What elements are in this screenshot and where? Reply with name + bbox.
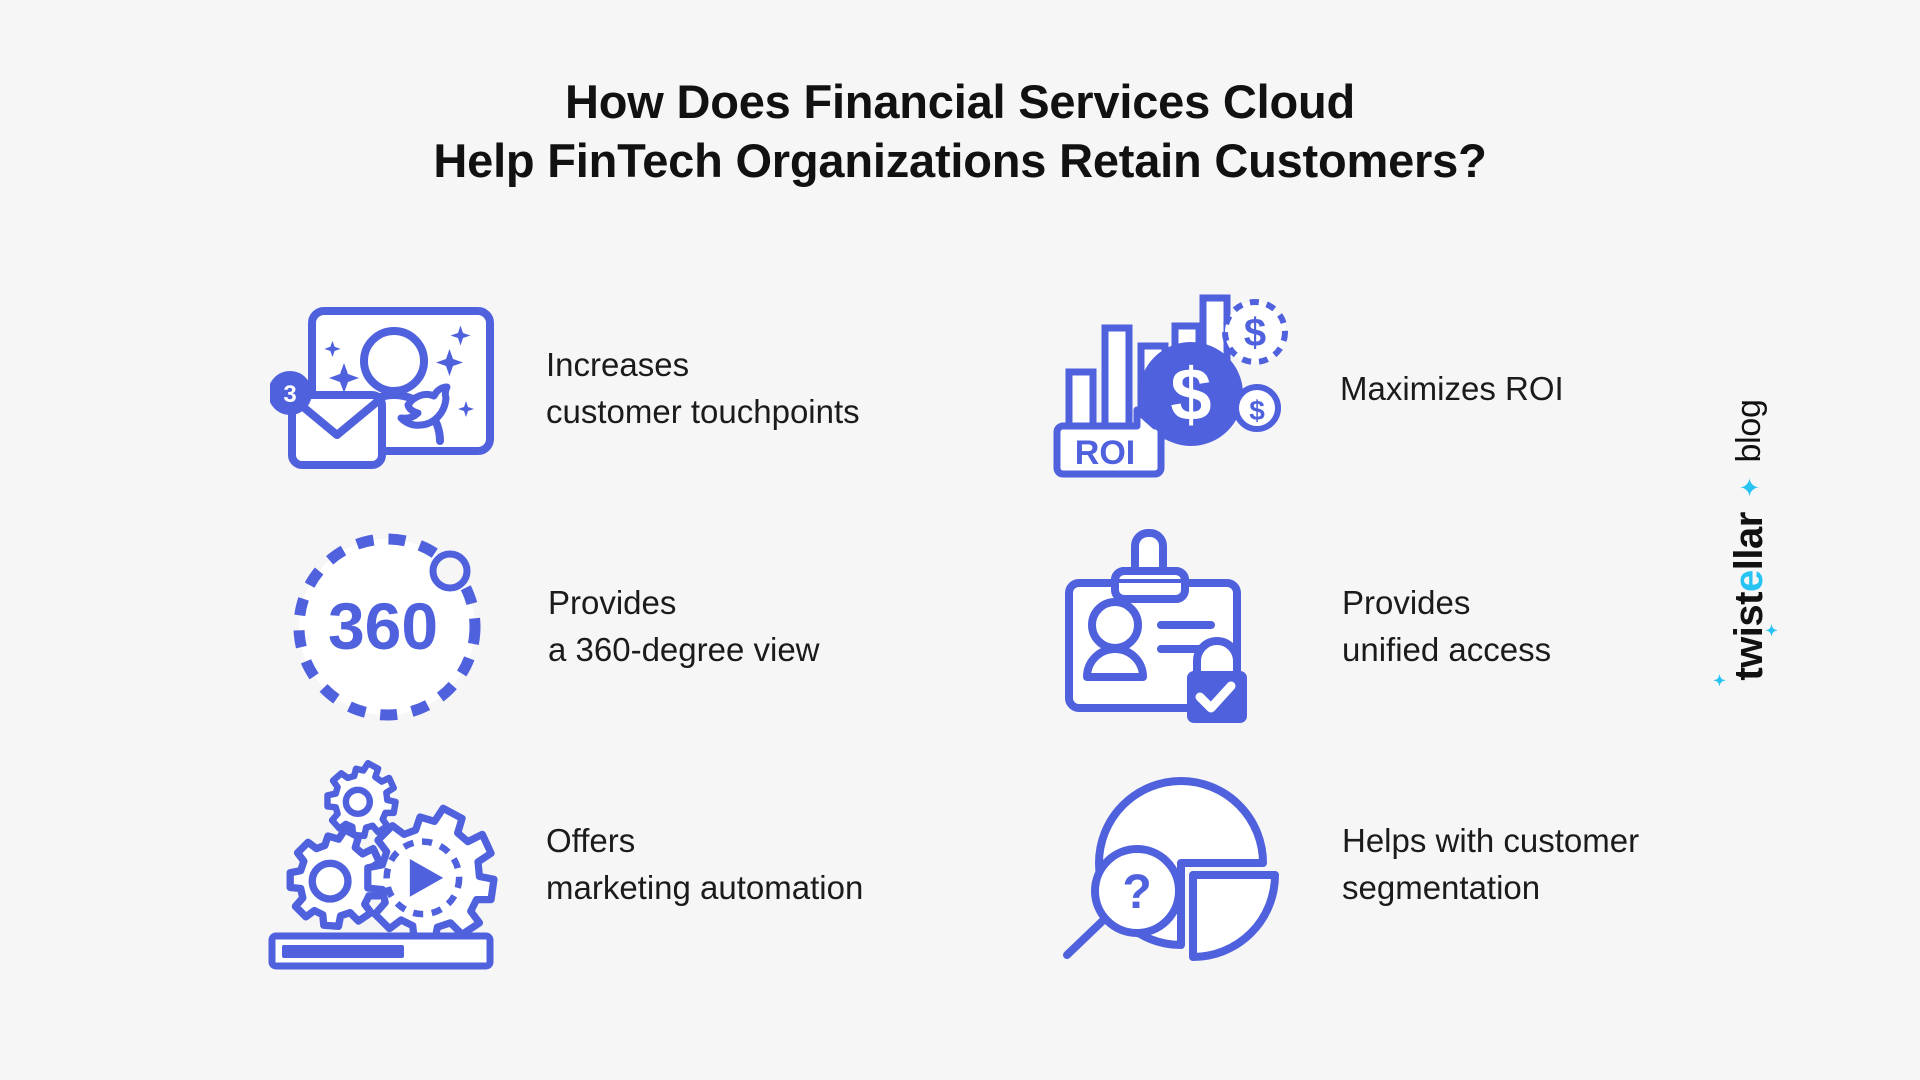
gears-automation-icon bbox=[250, 750, 510, 980]
feature-item-marketing-automation: Offers marketing automation bbox=[250, 746, 950, 984]
roi-bubble-text: ROI bbox=[1075, 434, 1135, 472]
brand-name: ✦ twistellar ✦ bbox=[1727, 512, 1772, 680]
feature-label: Provides a 360-degree view bbox=[512, 580, 820, 674]
feature-item-increases-touchpoints: 3 Increases customer touchpoints bbox=[250, 270, 950, 508]
brand-name-part2: llar bbox=[1727, 512, 1771, 570]
brand-sub-label: blog bbox=[1730, 399, 1769, 462]
page-title: How Does Financial Services Cloud Help F… bbox=[0, 72, 1920, 190]
feature-item-maximizes-roi: $ $ $ ROI Maximizes ROI bbox=[1030, 270, 1730, 508]
sparkle-icon-2: ✦ bbox=[1765, 625, 1780, 637]
roi-growth-icon: $ $ $ ROI bbox=[1030, 274, 1298, 504]
pie-chart-search-icon: ? bbox=[1030, 750, 1300, 980]
360-view-icon: 360 bbox=[250, 512, 512, 742]
brand-logo[interactable]: ✦ twistellar ✦ ✦ blog bbox=[1727, 399, 1772, 680]
feature-label: Maximizes ROI bbox=[1298, 366, 1564, 413]
brand-name-accent: e bbox=[1727, 570, 1771, 592]
dollar-symbol-dashed: $ bbox=[1244, 311, 1266, 355]
feature-item-customer-segmentation: ? Helps with customer segmentation bbox=[1030, 746, 1730, 984]
feature-label: Helps with customer segmentation bbox=[1300, 818, 1639, 912]
badge-count: 3 bbox=[283, 381, 296, 408]
customer-touchpoints-icon: 3 bbox=[250, 274, 510, 504]
page-title-line-1: How Does Financial Services Cloud bbox=[0, 72, 1920, 131]
feature-grid: 3 Increases customer touchpoints $ $ bbox=[250, 270, 1730, 984]
feature-label: Offers marketing automation bbox=[510, 818, 863, 912]
page-title-line-2: Help FinTech Organizations Retain Custom… bbox=[0, 131, 1920, 190]
progress-fill bbox=[282, 945, 404, 958]
feature-label: Increases customer touchpoints bbox=[510, 342, 860, 436]
360-label: 360 bbox=[328, 589, 438, 663]
question-mark: ? bbox=[1122, 866, 1151, 919]
feature-label: Provides unified access bbox=[1300, 580, 1551, 674]
feature-item-unified-access: Provides unified access bbox=[1030, 508, 1730, 746]
star-separator-icon: ✦ bbox=[1736, 476, 1762, 498]
sparkle-icon: ✦ bbox=[1713, 675, 1728, 687]
feature-item-360-degree-view: 360 Provides a 360-degree view bbox=[250, 508, 950, 746]
id-badge-lock-icon bbox=[1030, 512, 1300, 742]
dollar-symbol-large: $ bbox=[1170, 353, 1211, 436]
dollar-symbol-small: $ bbox=[1249, 395, 1265, 426]
